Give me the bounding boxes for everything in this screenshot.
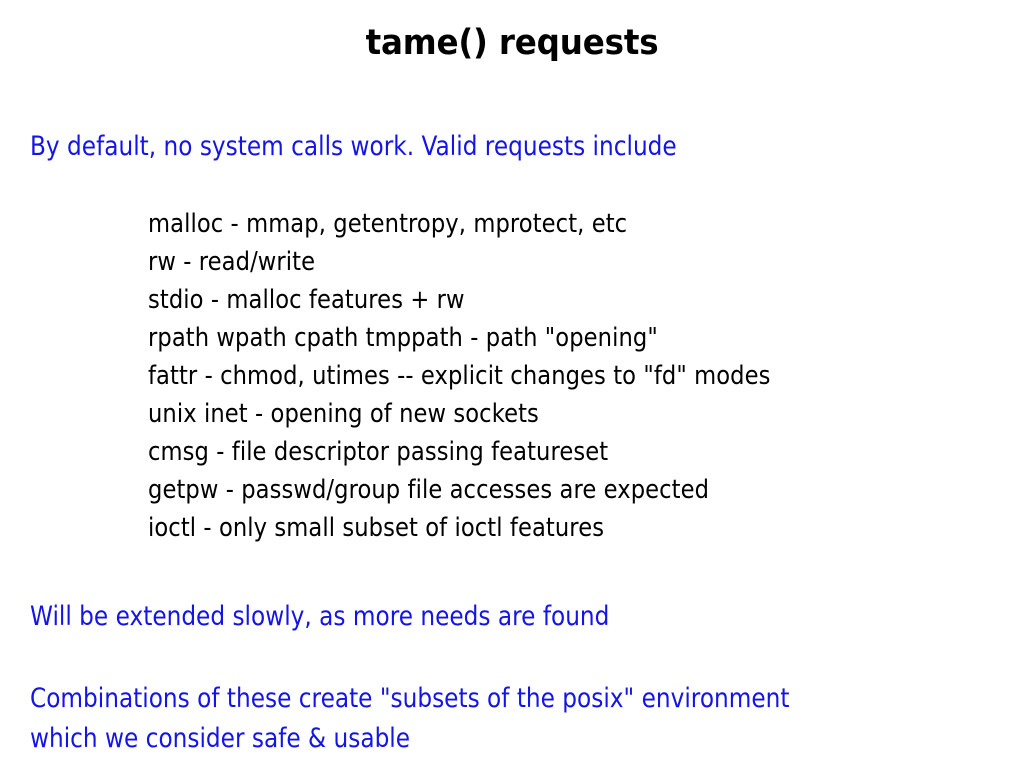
list-item: cmsg - file descriptor passing featurese… [148,433,770,471]
list-item: malloc - mmap, getentropy, mprotect, etc [148,205,770,243]
list-item: ioctl - only small subset of ioctl featu… [148,509,770,547]
list-item: stdio - malloc features + rw [148,281,770,319]
combination-note: Combinations of these create "subsets of… [30,682,913,756]
list-item: fattr - chmod, utimes -- explicit change… [148,357,770,395]
list-item: unix inet - opening of new sockets [148,395,770,433]
combination-note-line-2: which we consider safe & usable [30,722,789,756]
list-item: getpw - passwd/group file accesses are e… [148,471,770,509]
list-item: rw - read/write [148,243,770,281]
extended-note: Will be extended slowly, as more needs a… [30,600,609,634]
slide-canvas: tame() requests By default, no system ca… [0,0,1024,768]
list-item: rpath wpath cpath tmppath - path "openin… [148,319,770,357]
page-title: tame() requests [36,22,988,64]
request-list: malloc - mmap, getentropy, mprotect, etc… [148,205,864,547]
combination-note-line-1: Combinations of these create "subsets of… [30,682,789,716]
intro-paragraph: By default, no system calls work. Valid … [30,130,677,164]
